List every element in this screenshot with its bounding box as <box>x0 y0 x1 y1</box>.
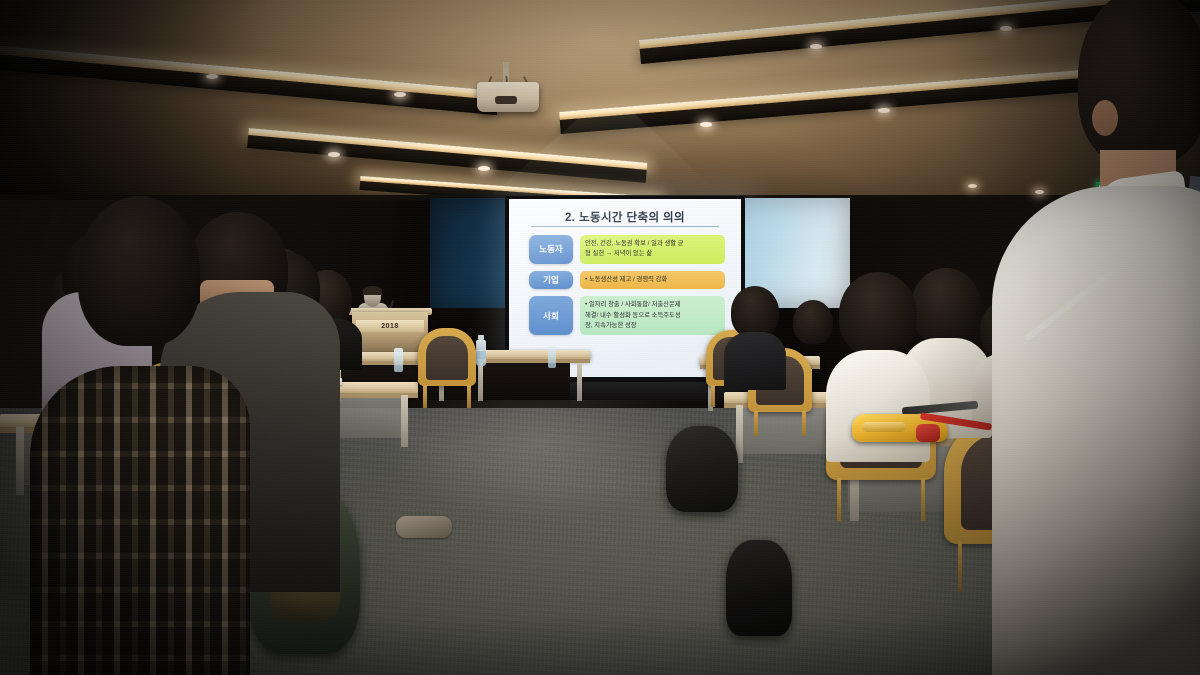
foreground-man-hair <box>1078 0 1200 166</box>
slide-row-line: 해결/ 내수 활성화 등으로 소득주도성 <box>585 311 720 321</box>
slide-title: 2. 노동시간 단축의 의의 <box>509 209 741 225</box>
table <box>470 350 590 402</box>
chair <box>418 328 476 386</box>
slide-row-content: • 일자리 창출 / 사회통합/ 저출산문제 해결/ 내수 활성화 등으로 소득… <box>580 296 725 335</box>
slide-row: 기업 • 노동생산성 제고 / 경쟁력 강화 <box>529 271 725 289</box>
foreground-person-head <box>78 196 200 346</box>
backpack <box>726 540 792 636</box>
jacket-on-floor <box>396 516 452 538</box>
ceiling-downlight <box>700 122 712 127</box>
ceiling-downlight <box>478 166 490 171</box>
foreground-person-plaid-shirt <box>30 366 250 675</box>
attendee <box>724 286 786 390</box>
slide-row-label: 기업 <box>529 271 573 289</box>
foreground-man-ear <box>1092 100 1118 136</box>
foreground-man-white-shirt <box>992 186 1200 675</box>
ceiling-downlight <box>810 44 822 49</box>
slide-row-label: 노동자 <box>529 235 573 264</box>
projector <box>477 82 539 112</box>
slide-row-line: • 노동생산성 제고 / 경쟁력 강화 <box>585 275 667 285</box>
water-bottle <box>548 346 556 368</box>
water-bottle <box>476 340 486 366</box>
slide-row: 사회 • 일자리 창출 / 사회통합/ 저출산문제 해결/ 내수 활성화 등으로… <box>529 296 725 335</box>
backpack <box>666 426 738 512</box>
ceiling-downlight <box>328 152 340 157</box>
photo-scene: "성공적 대응" (Trad mes) ※Dare and the of Tra… <box>0 0 1200 675</box>
water-bottle <box>394 348 403 372</box>
ceiling-shadow-left <box>0 0 300 215</box>
speaker-hair <box>363 286 382 295</box>
red-strap-knot <box>916 424 940 442</box>
slide-title-rule <box>531 226 719 227</box>
podium-sign: 2018 <box>356 320 424 332</box>
slide-row-line: 장, 지속가능한 성장 <box>585 321 720 331</box>
slide-row-label: 사회 <box>529 296 573 335</box>
wall-downlight <box>1035 190 1044 194</box>
slide-row: 노동자 안전, 건강, 노동권 확보 / 일과 생활 균 형 실현 → 저녁이 … <box>529 235 725 264</box>
projector-lens <box>495 96 517 104</box>
podium <box>352 312 428 356</box>
slide-row-content: 안전, 건강, 노동권 확보 / 일과 생활 균 형 실현 → 저녁이 있는 삶 <box>580 235 725 264</box>
slide-row-content: • 노동생산성 제고 / 경쟁력 강화 <box>580 271 725 289</box>
ceiling-downlight <box>878 108 890 113</box>
slide-row-line: • 일자리 창출 / 사회통합/ 저출산문제 <box>585 300 720 310</box>
slide-rows: 노동자 안전, 건강, 노동권 확보 / 일과 생활 균 형 실현 → 저녁이 … <box>529 235 725 342</box>
slide-row-line: 안전, 건강, 노동권 확보 / 일과 생활 균 <box>585 239 720 249</box>
slide-row-line: 형 실현 → 저녁이 있는 삶 <box>585 249 720 259</box>
ceiling-downlight <box>394 92 406 97</box>
wall-downlight <box>968 184 977 188</box>
